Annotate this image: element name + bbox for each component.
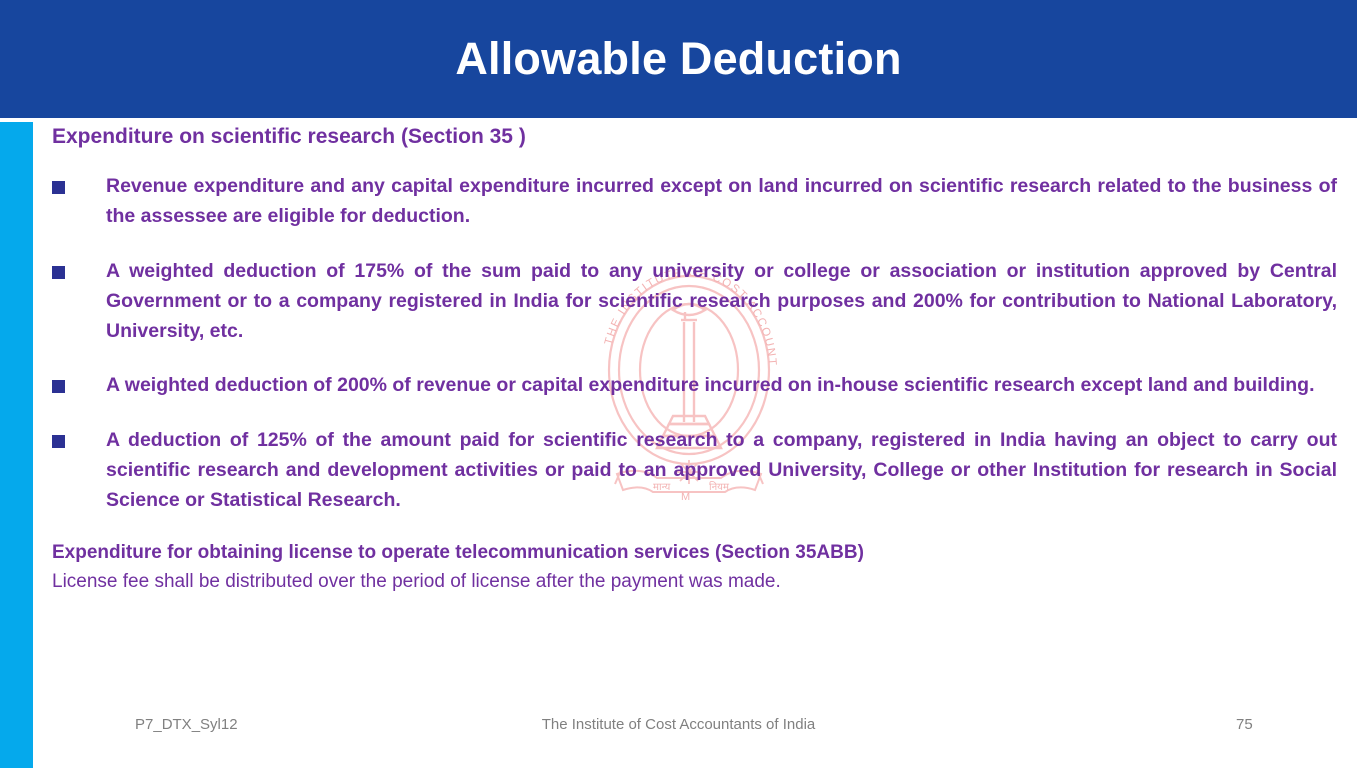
slide-footer: P7_DTX_Syl12 The Institute of Cost Accou… [0,716,1357,750]
square-bullet-icon [52,435,65,448]
page-title: Allowable Deduction [0,0,1357,118]
list-item: A weighted deduction of 200% of revenue … [52,371,1337,401]
square-bullet-icon [52,266,65,279]
square-bullet-icon [52,181,65,194]
section-heading: Expenditure on scientific research (Sect… [52,124,1337,150]
slide-body: Expenditure on scientific research (Sect… [52,124,1337,596]
list-item: Revenue expenditure and any capital expe… [52,172,1337,232]
list-item-text: A weighted deduction of 175% of the sum … [106,257,1337,346]
presentation-slide: Allowable Deduction THE INSTITUTE OF COS… [0,0,1363,768]
license-body-text: License fee shall be distributed over th… [52,568,1337,596]
footer-organization: The Institute of Cost Accountants of Ind… [0,716,1357,733]
list-item-text: A deduction of 125% of the amount paid f… [106,426,1337,515]
list-item: A deduction of 125% of the amount paid f… [52,426,1337,515]
list-item-text: A weighted deduction of 200% of revenue … [106,371,1337,401]
left-accent-bar [0,122,33,768]
license-heading: Expenditure for obtaining license to ope… [52,541,1337,566]
list-item: A weighted deduction of 175% of the sum … [52,257,1337,346]
list-item-text: Revenue expenditure and any capital expe… [106,172,1337,232]
square-bullet-icon [52,380,65,393]
footer-page-number: 75 [1236,716,1253,733]
license-block: Expenditure for obtaining license to ope… [52,541,1337,596]
bullet-list: Revenue expenditure and any capital expe… [52,172,1337,515]
